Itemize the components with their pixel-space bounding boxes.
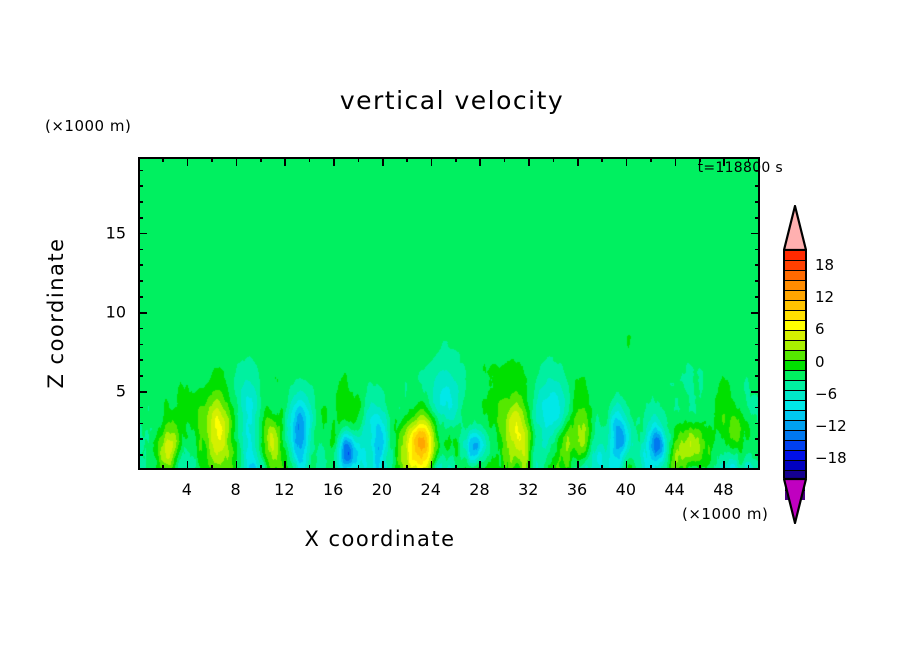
axis-tick bbox=[138, 280, 143, 282]
axis-tick bbox=[755, 344, 760, 346]
colorbar-band bbox=[785, 300, 805, 310]
x-axis-unit-label: (×1000 m) bbox=[682, 505, 768, 523]
axis-tick bbox=[211, 157, 213, 162]
colorbar-band bbox=[785, 280, 805, 290]
axis-tick bbox=[755, 201, 760, 203]
colorbar-band bbox=[785, 310, 805, 320]
axis-tick bbox=[138, 359, 143, 361]
axis-tick bbox=[479, 461, 481, 470]
colorbar-tick-label: 18 bbox=[815, 256, 834, 274]
colorbar-band bbox=[785, 450, 805, 460]
timestamp-annotation: t=118800 s bbox=[698, 160, 783, 176]
axis-tick bbox=[260, 465, 262, 470]
axis-tick bbox=[162, 465, 164, 470]
axis-tick bbox=[601, 465, 603, 470]
colorbar-band bbox=[785, 330, 805, 340]
axis-tick bbox=[138, 423, 143, 425]
axis-tick bbox=[528, 461, 530, 470]
colorbar-band bbox=[785, 410, 805, 420]
colorbar-tick-label: −6 bbox=[815, 385, 837, 403]
x-axis-tick-label: 16 bbox=[323, 480, 343, 499]
colorbar-bands bbox=[783, 249, 807, 478]
axis-tick bbox=[577, 461, 579, 470]
x-axis-tick-label: 24 bbox=[421, 480, 441, 499]
axis-tick bbox=[358, 157, 360, 162]
axis-tick bbox=[431, 461, 433, 470]
axis-tick bbox=[723, 157, 725, 166]
axis-tick bbox=[755, 375, 760, 377]
axis-tick bbox=[650, 465, 652, 470]
axis-tick bbox=[755, 438, 760, 440]
colorbar-band bbox=[785, 440, 805, 450]
y-axis-tick-label: 5 bbox=[116, 381, 126, 400]
colorbar-band bbox=[785, 360, 805, 370]
axis-tick bbox=[138, 375, 143, 377]
axis-tick bbox=[138, 312, 147, 314]
axis-tick bbox=[699, 157, 701, 162]
colorbar-band bbox=[785, 430, 805, 440]
axis-tick bbox=[138, 391, 147, 393]
x-axis-tick-label: 40 bbox=[616, 480, 636, 499]
axis-tick bbox=[138, 454, 143, 456]
colorbar-band bbox=[785, 390, 805, 400]
x-axis-tick-label: 44 bbox=[664, 480, 684, 499]
axis-tick bbox=[626, 157, 628, 166]
y-axis-tick-label: 10 bbox=[106, 302, 126, 321]
axis-tick bbox=[748, 465, 750, 470]
colorbar-band bbox=[785, 251, 805, 260]
axis-tick bbox=[138, 185, 143, 187]
axis-tick bbox=[138, 201, 143, 203]
chart-title: vertical velocity bbox=[0, 86, 904, 115]
y-axis-title: Z coordinate bbox=[44, 237, 68, 388]
axis-tick bbox=[601, 157, 603, 162]
axis-tick bbox=[138, 249, 143, 251]
axis-tick bbox=[751, 233, 760, 235]
axis-tick bbox=[755, 407, 760, 409]
axis-tick bbox=[755, 423, 760, 425]
axis-tick bbox=[751, 391, 760, 393]
x-axis-tick-label: 48 bbox=[713, 480, 733, 499]
axis-tick bbox=[284, 157, 286, 166]
axis-tick bbox=[211, 465, 213, 470]
axis-tick bbox=[553, 465, 555, 470]
colorbar-tick-label: −18 bbox=[815, 449, 847, 467]
axis-tick bbox=[504, 465, 506, 470]
axis-tick bbox=[309, 157, 311, 162]
axis-tick bbox=[138, 296, 143, 298]
axis-tick bbox=[406, 465, 408, 470]
axis-tick bbox=[138, 407, 143, 409]
x-axis-tick-label: 36 bbox=[567, 480, 587, 499]
axis-tick bbox=[751, 312, 760, 314]
axis-tick bbox=[755, 217, 760, 219]
axis-tick bbox=[187, 157, 189, 166]
colorbar-tick-label: 6 bbox=[815, 320, 825, 338]
colorbar-band bbox=[785, 420, 805, 430]
axis-tick bbox=[675, 461, 677, 470]
axis-tick bbox=[755, 454, 760, 456]
axis-tick bbox=[755, 264, 760, 266]
x-axis-tick-label: 20 bbox=[372, 480, 392, 499]
axis-tick bbox=[138, 233, 147, 235]
colorbar-band bbox=[785, 340, 805, 350]
axis-tick bbox=[699, 465, 701, 470]
colorbar: 181260−6−12−18 bbox=[775, 205, 895, 515]
x-axis-tick-label: 4 bbox=[182, 480, 192, 499]
axis-tick bbox=[284, 461, 286, 470]
axis-tick bbox=[260, 157, 262, 162]
colorbar-band bbox=[785, 290, 805, 300]
axis-tick bbox=[479, 157, 481, 166]
axis-tick bbox=[675, 157, 677, 166]
axis-tick bbox=[138, 328, 143, 330]
contour-plot-area bbox=[138, 157, 760, 470]
axis-tick bbox=[138, 438, 143, 440]
colorbar-band bbox=[785, 400, 805, 410]
x-axis-title: X coordinate bbox=[0, 527, 760, 551]
colorbar-tick-label: 0 bbox=[815, 353, 825, 371]
axis-tick bbox=[755, 185, 760, 187]
colorbar-band bbox=[785, 370, 805, 380]
vertical-velocity-field bbox=[138, 157, 760, 470]
axis-tick bbox=[755, 328, 760, 330]
axis-tick bbox=[187, 461, 189, 470]
axis-tick bbox=[553, 157, 555, 162]
z-axis-unit-label: (×1000 m) bbox=[45, 117, 131, 135]
axis-tick bbox=[358, 465, 360, 470]
axis-tick bbox=[236, 157, 238, 166]
axis-tick bbox=[455, 465, 457, 470]
axis-tick bbox=[504, 157, 506, 162]
colorbar-band bbox=[785, 270, 805, 280]
axis-tick bbox=[650, 157, 652, 162]
colorbar-tick-label: 12 bbox=[815, 288, 834, 306]
axis-tick bbox=[406, 157, 408, 162]
colorbar-under-arrow bbox=[783, 476, 807, 524]
x-axis-tick-label: 28 bbox=[469, 480, 489, 499]
x-axis-tick-label: 8 bbox=[230, 480, 240, 499]
axis-tick bbox=[333, 461, 335, 470]
colorbar-band bbox=[785, 320, 805, 330]
axis-tick bbox=[236, 461, 238, 470]
axis-tick bbox=[755, 249, 760, 251]
axis-tick bbox=[755, 359, 760, 361]
axis-tick bbox=[162, 157, 164, 162]
axis-tick bbox=[382, 157, 384, 166]
axis-tick bbox=[431, 157, 433, 166]
axis-tick bbox=[528, 157, 530, 166]
axis-tick bbox=[626, 461, 628, 470]
axis-tick bbox=[138, 264, 143, 266]
axis-tick bbox=[755, 280, 760, 282]
colorbar-tick-label: −12 bbox=[815, 417, 847, 435]
axis-tick bbox=[382, 461, 384, 470]
axis-tick bbox=[455, 157, 457, 162]
axis-tick bbox=[138, 344, 143, 346]
axis-tick bbox=[723, 461, 725, 470]
x-axis-tick-label: 12 bbox=[274, 480, 294, 499]
axis-tick bbox=[755, 296, 760, 298]
axis-tick bbox=[333, 157, 335, 166]
colorbar-band bbox=[785, 460, 805, 470]
x-axis-tick-label: 32 bbox=[518, 480, 538, 499]
colorbar-over-arrow bbox=[783, 205, 807, 251]
axis-tick bbox=[748, 157, 750, 162]
axis-tick bbox=[309, 465, 311, 470]
y-axis-tick-label: 15 bbox=[106, 223, 126, 242]
axis-tick bbox=[755, 170, 760, 172]
colorbar-band bbox=[785, 260, 805, 270]
colorbar-band bbox=[785, 350, 805, 360]
axis-tick bbox=[138, 170, 143, 172]
colorbar-band bbox=[785, 380, 805, 390]
axis-tick bbox=[138, 217, 143, 219]
axis-tick bbox=[577, 157, 579, 166]
